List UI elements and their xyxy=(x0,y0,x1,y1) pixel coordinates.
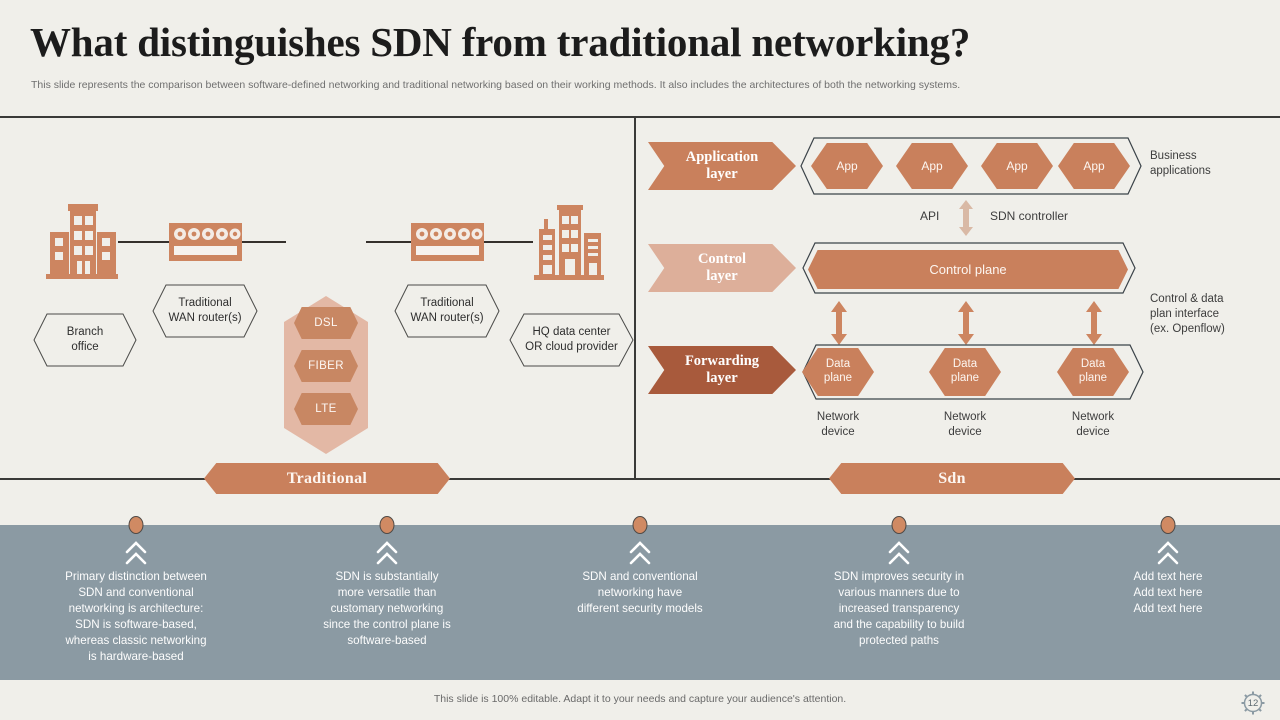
link-router1-media xyxy=(241,241,286,243)
link-office-router1 xyxy=(118,241,170,243)
point-marker-dot-2 xyxy=(380,516,395,534)
wan-media-hexagon: DSL FIBER LTE xyxy=(284,296,368,454)
comparison-points-panel: Primary distinction between SDN and conv… xyxy=(0,525,1280,680)
interface-arrow-1-icon xyxy=(828,301,850,350)
comparison-point-3-text: SDN and conventional networking have dif… xyxy=(525,569,755,617)
category-banner-sdn: Sdn xyxy=(829,463,1075,494)
footer-note: This slide is 100% editable. Adapt it to… xyxy=(0,693,1280,705)
link-router2-hq xyxy=(483,241,533,243)
data-plane-2-line1: Data xyxy=(953,358,977,372)
label-wan-router-2: Traditional WAN router(s) xyxy=(394,284,500,338)
city-buildings-icon xyxy=(531,201,607,288)
layer-banner-application: Application layer xyxy=(648,142,796,190)
label-hq-datacenter-text: HQ data center OR cloud provider xyxy=(509,313,634,367)
label-wan-router-2-text: Traditional WAN router(s) xyxy=(394,284,500,338)
note-business-applications: Business applications xyxy=(1150,149,1211,179)
label-branch-office-text: Branch office xyxy=(33,313,137,367)
page-number: 12 xyxy=(1240,690,1266,716)
comparison-point-4: SDN improves security in various manners… xyxy=(784,525,1014,680)
canvas-bottom-divider xyxy=(0,478,1280,480)
media-lte: LTE xyxy=(294,393,358,425)
data-plane-1-line1: Data xyxy=(826,358,850,372)
point-marker-dot-1 xyxy=(129,516,144,534)
page-subtitle: This slide represents the comparison bet… xyxy=(31,79,960,91)
layer-forwarding-line2: layer xyxy=(706,370,737,386)
point-marker-dot-3 xyxy=(633,516,648,534)
data-plane-3-line1: Data xyxy=(1081,358,1105,372)
comparison-point-1-text: Primary distinction between SDN and conv… xyxy=(21,569,251,665)
media-dsl: DSL xyxy=(294,307,358,339)
comparison-point-3: SDN and conventional networking have dif… xyxy=(525,525,755,680)
router-icon-2 xyxy=(411,223,484,266)
note-control-data-interface: Control & data plan interface (ex. Openf… xyxy=(1150,292,1225,338)
point-marker-dot-4 xyxy=(892,516,907,534)
category-banner-traditional: Traditional xyxy=(204,463,450,494)
layer-banner-control: Control layer xyxy=(648,244,796,292)
double-chevron-up-icon-1 xyxy=(124,541,148,572)
api-双-arrow-icon xyxy=(955,200,977,241)
comparison-point-2-text: SDN is substantially more versatile than… xyxy=(272,569,502,649)
network-device-label-2: Network device xyxy=(920,410,1010,440)
diagram-canvas: DSL FIBER LTE xyxy=(0,118,1280,522)
layer-control-line2: layer xyxy=(706,268,737,284)
label-hq-datacenter: HQ data center OR cloud provider xyxy=(509,313,634,367)
layer-banner-forwarding: Forwarding layer xyxy=(648,346,796,394)
router-icon-1 xyxy=(169,223,242,266)
layer-application-line2: layer xyxy=(706,166,737,182)
comparison-point-5: Add text here Add text here Add text her… xyxy=(1053,525,1280,680)
comparison-point-2: SDN is substantially more versatile than… xyxy=(272,525,502,680)
data-plane-3-line2: plane xyxy=(1079,372,1107,386)
slide-footer: This slide is 100% editable. Adapt it to… xyxy=(0,680,1280,720)
label-wan-router-1: Traditional WAN router(s) xyxy=(152,284,258,338)
comparison-point-4-text: SDN improves security in various manners… xyxy=(784,569,1014,649)
center-divider xyxy=(634,118,636,478)
label-api: API xyxy=(920,209,939,223)
label-branch-office: Branch office xyxy=(33,313,137,367)
network-device-label-3: Network device xyxy=(1048,410,1138,440)
layer-control-line1: Control xyxy=(698,251,746,267)
double-chevron-up-icon-4 xyxy=(887,541,911,572)
comparison-point-1: Primary distinction between SDN and conv… xyxy=(21,525,251,680)
page-title: What distinguishes SDN from traditional … xyxy=(30,18,970,66)
data-plane-1-line2: plane xyxy=(824,372,852,386)
point-marker-dot-5 xyxy=(1161,516,1176,534)
media-fiber: FIBER xyxy=(294,350,358,382)
double-chevron-up-icon-3 xyxy=(628,541,652,572)
data-plane-2-line2: plane xyxy=(951,372,979,386)
link-media-router2 xyxy=(366,241,412,243)
double-chevron-up-icon-2 xyxy=(375,541,399,572)
office-building-icon xyxy=(44,204,120,287)
label-wan-router-1-text: Traditional WAN router(s) xyxy=(152,284,258,338)
control-plane-hex[interactable]: Control plane xyxy=(808,250,1128,289)
interface-arrow-2-icon xyxy=(955,301,977,350)
double-chevron-up-icon-5 xyxy=(1156,541,1180,572)
slide-header: What distinguishes SDN from traditional … xyxy=(0,0,1280,117)
layer-forwarding-line1: Forwarding xyxy=(685,353,759,369)
interface-arrow-3-icon xyxy=(1083,301,1105,350)
network-device-label-1: Network device xyxy=(793,410,883,440)
label-sdn-controller: SDN controller xyxy=(990,209,1068,223)
layer-application-line1: Application xyxy=(686,149,759,165)
comparison-point-5-text: Add text here Add text here Add text her… xyxy=(1053,569,1280,617)
page-number-badge: 12 xyxy=(1240,690,1266,716)
